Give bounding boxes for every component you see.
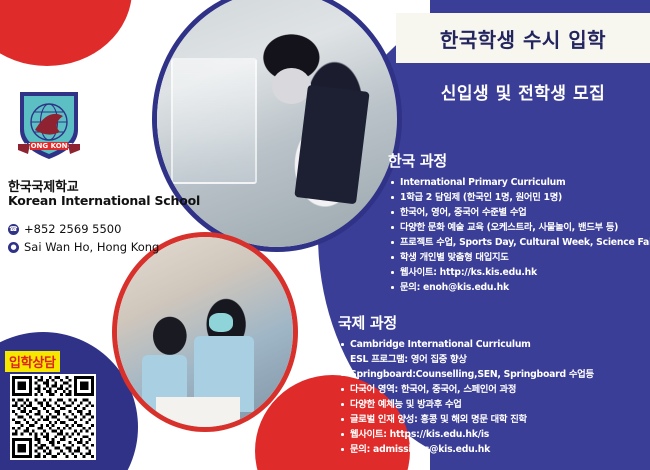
subheader-band: 신입생 및 전학생 모집	[396, 74, 650, 108]
admission-consultation-badge: 입학상담	[5, 351, 60, 372]
list-item: 1학급 2 담임제 (한국인 1명, 원어민 1명)	[388, 190, 650, 205]
section-international-curriculum: 국제 과정 Cambridge International Curriculum…	[338, 312, 650, 457]
list-item: 프로젝트 수업, Sports Day, Cultural Week, Scie…	[388, 235, 650, 250]
section-korean-curriculum: 한국 과정 International Primary Curriculum 1…	[388, 150, 650, 295]
decorative-red-circle-top-left	[0, 0, 132, 66]
logo-banner-text: HONG KONG	[25, 142, 74, 150]
list-item: International Primary Curriculum	[388, 175, 650, 190]
section-korean-list: International Primary Curriculum 1학급 2 담…	[388, 175, 650, 295]
list-item-website[interactable]: 웹사이트: http://ks.kis.edu.hk	[388, 265, 650, 280]
page-title: 한국학생 수시 입학	[440, 24, 606, 53]
header-band: 한국학생 수시 입학	[396, 13, 650, 63]
list-item-email[interactable]: 문의: admissions@kis.edu.hk	[338, 442, 650, 457]
section-international-list: Cambridge International Curriculum ESL 프…	[338, 337, 650, 457]
list-item-email[interactable]: 문의: enoh@kis.edu.hk	[388, 280, 650, 295]
list-item: Cambridge International Curriculum	[338, 337, 650, 352]
list-item: 다양한 문화 예술 교육 (오케스트라, 사물놀이, 밴드부 등)	[388, 220, 650, 235]
contact-phone: ☎ +852 2569 5500	[8, 222, 121, 236]
contact-address: ● Sai Wan Ho, Hong Kong	[8, 240, 159, 254]
phone-icon: ☎	[8, 224, 19, 235]
admissions-poster: 한국학생 수시 입학 신입생 및 전학생 모집 HONG KONG	[0, 0, 650, 470]
section-korean-title: 한국 과정	[388, 150, 650, 171]
list-item: 학생 개인별 맞춤형 대입지도	[388, 250, 650, 265]
science-lab-photo	[152, 0, 402, 252]
art-class-photo	[112, 232, 298, 432]
list-item: 글로벌 인재 양성: 홍콩 및 해외 명문 대학 진학	[338, 412, 650, 427]
list-item-website[interactable]: 웹사이트: https://kis.edu.hk/is	[338, 427, 650, 442]
list-item: 다국어 영역: 한국어, 중국어, 스페인어 과정	[338, 382, 650, 397]
contact-address-value: Sai Wan Ho, Hong Kong	[24, 240, 159, 254]
school-crest-logo: HONG KONG	[8, 86, 90, 164]
contact-phone-value: +852 2569 5500	[24, 222, 121, 236]
location-pin-icon: ●	[8, 242, 19, 253]
page-subtitle: 신입생 및 전학생 모집	[441, 79, 606, 104]
qr-code[interactable]	[10, 374, 96, 460]
school-name-english: Korean International School	[8, 193, 200, 208]
section-international-title: 국제 과정	[338, 312, 650, 333]
list-item: 다양한 예체능 및 방과후 수업	[338, 397, 650, 412]
list-item: Springboard:Counselling,SEN, Springboard…	[338, 367, 650, 382]
list-item: 한국어, 영어, 중국어 수준별 수업	[388, 205, 650, 220]
list-item: ESL 프로그램: 영어 집중 향상	[338, 352, 650, 367]
